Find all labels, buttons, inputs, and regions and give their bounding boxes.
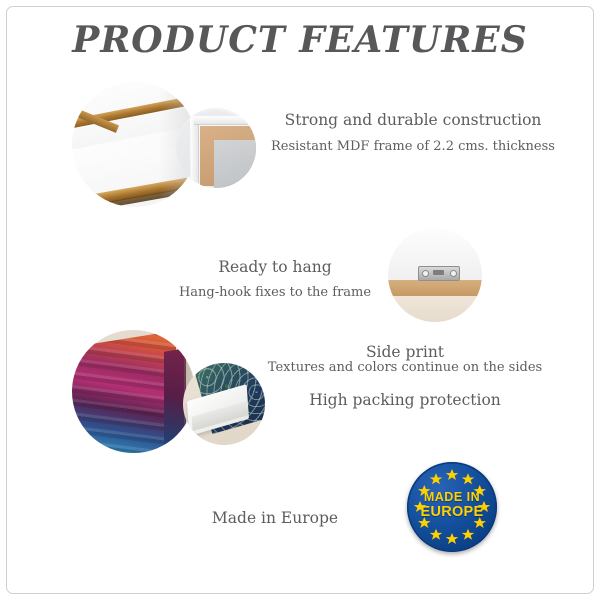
badge-label-line2: EUROPE bbox=[407, 505, 497, 521]
feature-subtext-durable-construction: Resistant MDF frame of 2.2 cms. thicknes… bbox=[248, 139, 578, 154]
ruler-horizontal bbox=[194, 117, 254, 125]
side-print-photo bbox=[72, 330, 195, 453]
frame-corner-thickness-photo bbox=[176, 108, 256, 188]
feature-subtext-side-print: Textures and colors continue on the side… bbox=[240, 360, 570, 375]
infographic-canvas: PRODUCT FEATURES Strong and durable cons… bbox=[0, 0, 600, 600]
canvas-texture-streaks bbox=[72, 331, 176, 453]
feature-heading-side-print: Side print bbox=[240, 343, 570, 361]
feature-heading-durable-construction: Strong and durable construction bbox=[248, 111, 578, 129]
bracket-screw-hole-right bbox=[450, 270, 457, 277]
badge-label-line1: MADE IN bbox=[407, 491, 497, 505]
page-title: PRODUCT FEATURES bbox=[0, 19, 600, 61]
feature-heading-made-in-europe: Made in Europe bbox=[105, 509, 445, 527]
feature-heading-packing-protection: High packing protection bbox=[240, 391, 570, 409]
eu-made-badge: MADE IN EUROPE bbox=[407, 462, 497, 552]
feature-heading-ready-to-hang: Ready to hang bbox=[110, 258, 440, 276]
feature-subtext-ready-to-hang: Hang-hook fixes to the frame bbox=[110, 285, 440, 300]
ruler-vertical bbox=[191, 120, 199, 182]
badge-label: MADE IN EUROPE bbox=[407, 491, 497, 520]
